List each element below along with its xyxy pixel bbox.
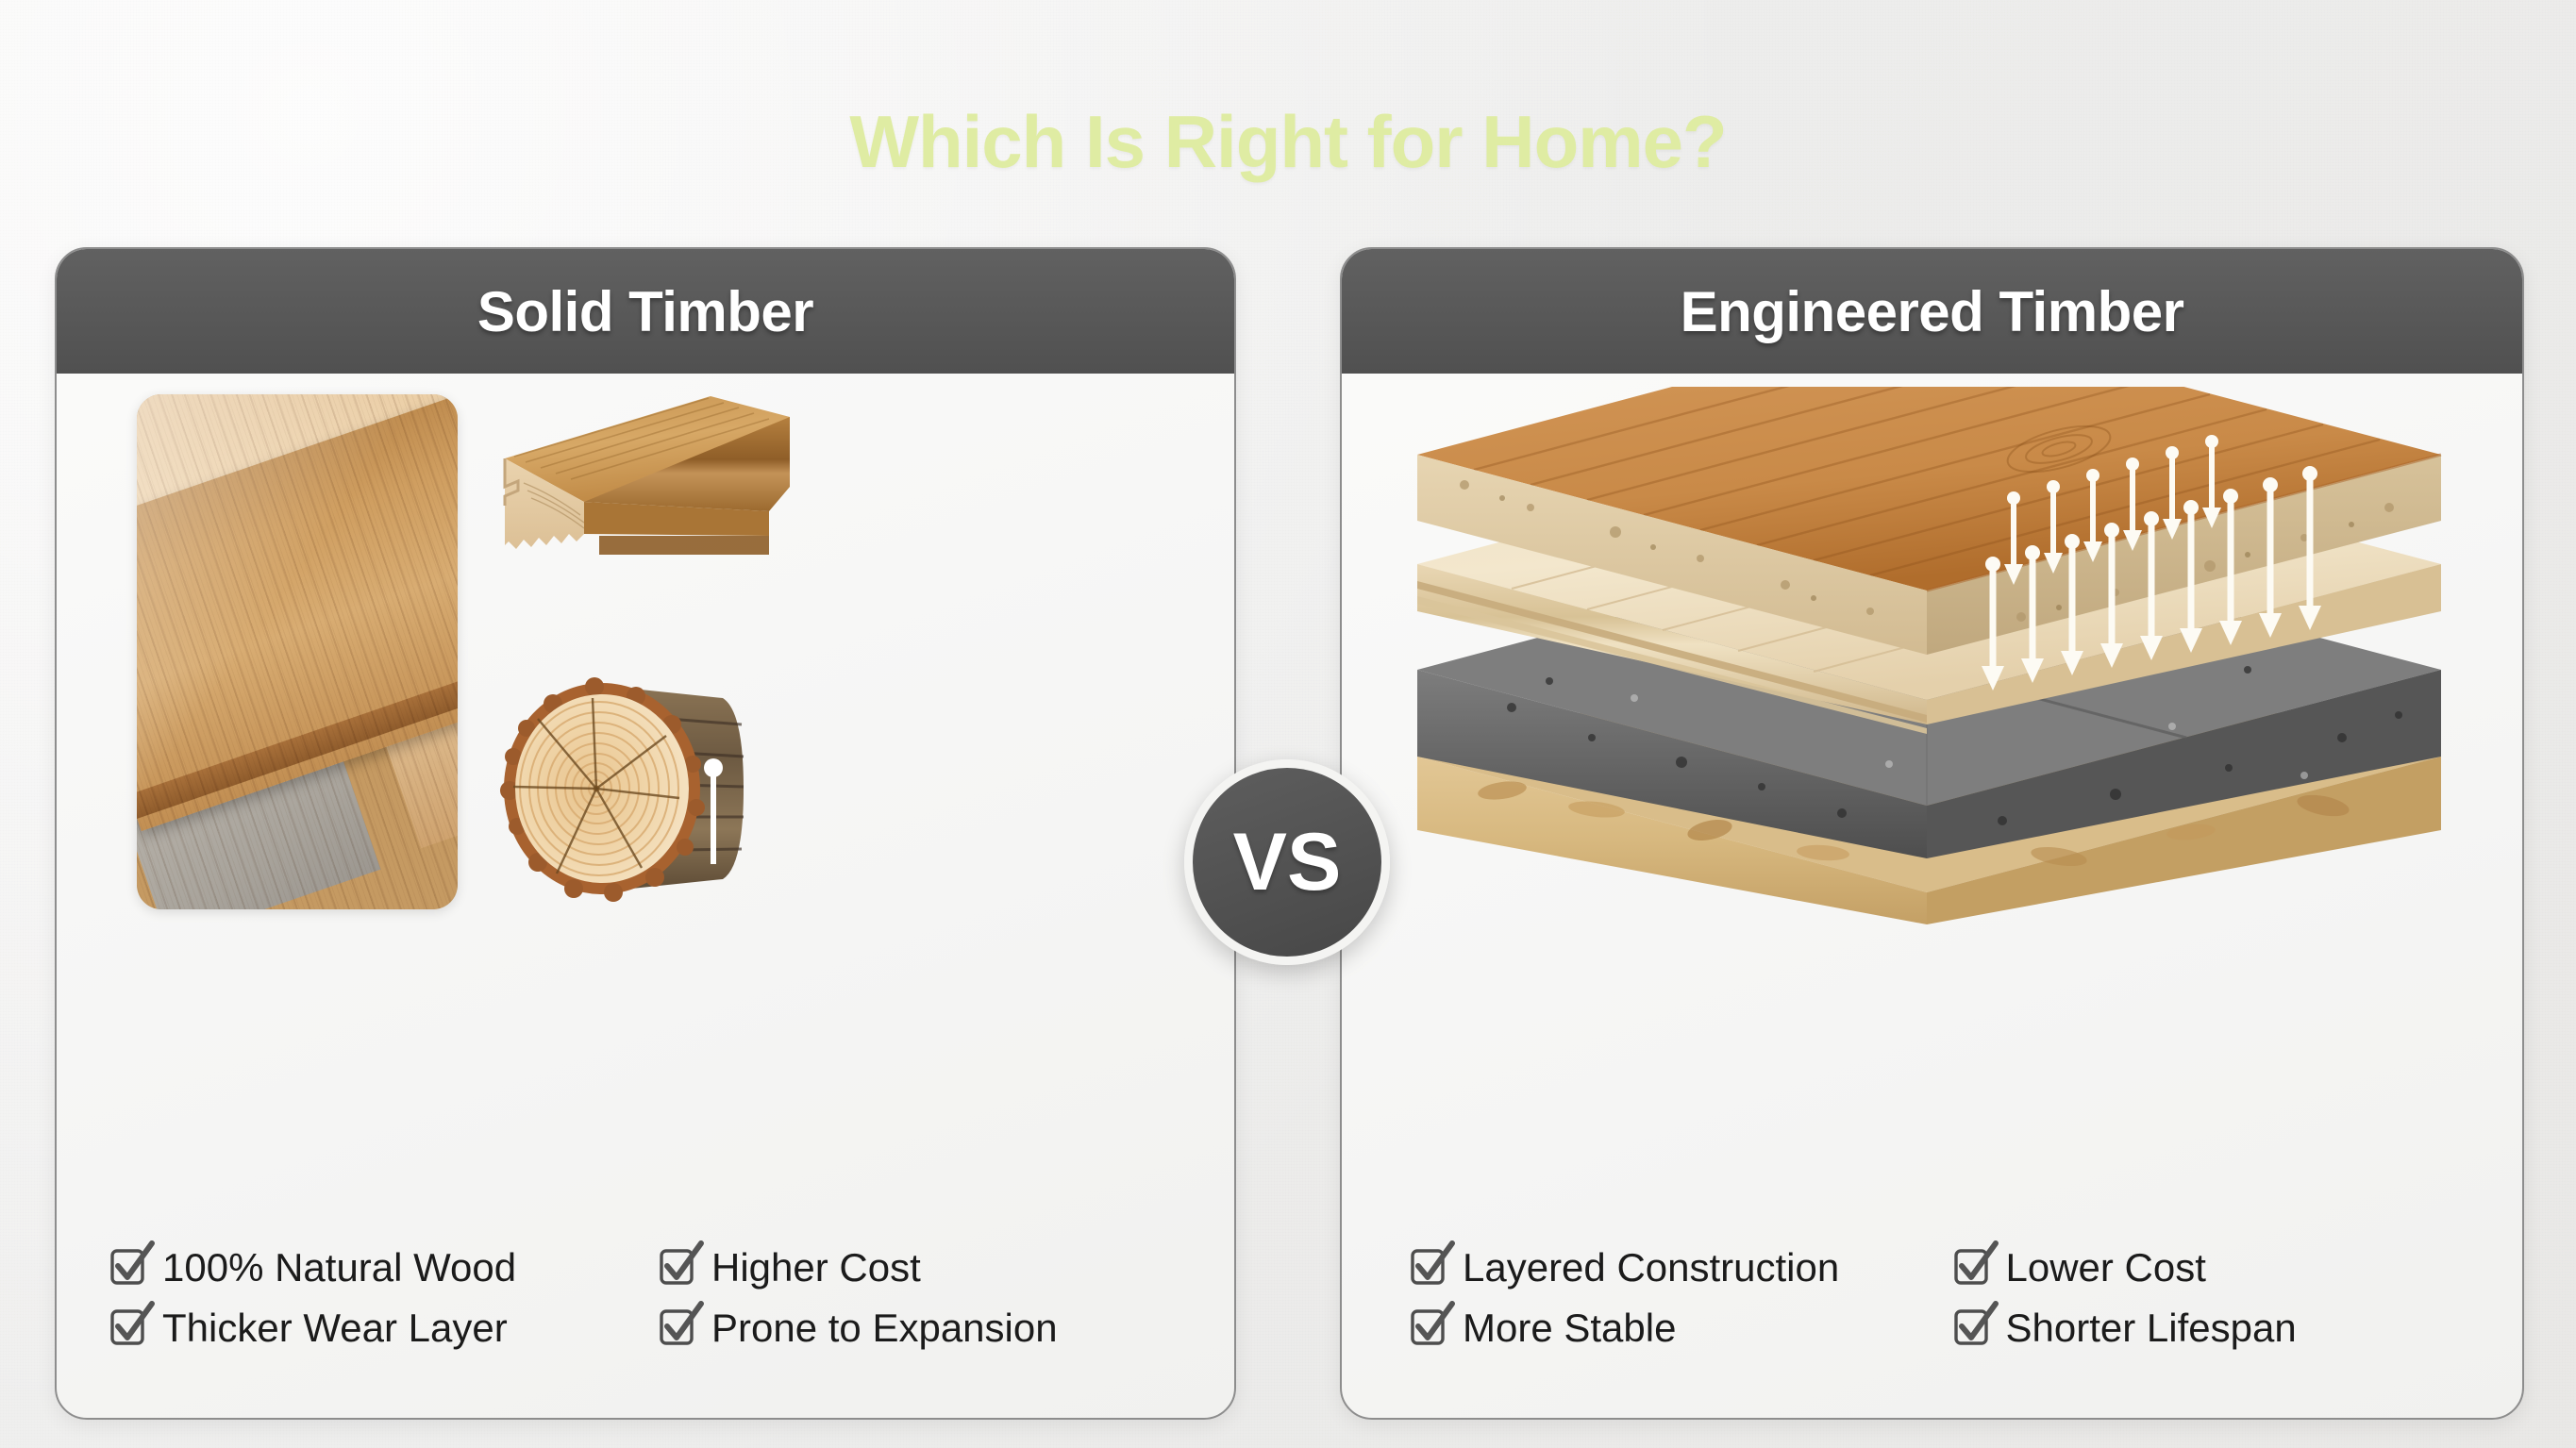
page-title: Which Is Right for Home? bbox=[0, 99, 2576, 185]
infographic-page: Which Is Right for Home? Solid Timber bbox=[0, 0, 2576, 1448]
comparison-card-solid-timber: Solid Timber bbox=[55, 247, 1236, 1420]
card-header-solid-timber: Solid Timber bbox=[57, 249, 1234, 374]
feature-item: Lower Cost bbox=[1955, 1246, 2491, 1290]
feature-label: Higher Cost bbox=[711, 1246, 921, 1290]
exploded-layer-diagram bbox=[1398, 387, 2460, 924]
checkbox-checked-icon bbox=[661, 1309, 696, 1347]
feature-label: Thicker Wear Layer bbox=[162, 1307, 508, 1350]
card-title-engineered-timber: Engineered Timber bbox=[1681, 279, 2184, 344]
feature-item: More Stable bbox=[1412, 1307, 1948, 1350]
checkbox-checked-icon bbox=[1955, 1309, 1991, 1347]
log-cross-section-icon bbox=[500, 666, 783, 911]
card-body-engineered-timber: Layered Construction Lower Cost bbox=[1342, 374, 2522, 1418]
vs-label: VS bbox=[1233, 816, 1342, 909]
feature-item: Shorter Lifespan bbox=[1955, 1307, 2491, 1350]
card-body-solid-timber: 100% Natural Wood Higher Cost bbox=[57, 374, 1234, 1418]
feature-list-engineered-timber: Layered Construction Lower Cost bbox=[1342, 1246, 2522, 1350]
checkbox-checked-icon bbox=[1955, 1249, 1991, 1287]
wood-flooring-photo bbox=[137, 394, 458, 909]
feature-label: 100% Natural Wood bbox=[162, 1246, 516, 1290]
checkbox-checked-icon bbox=[111, 1249, 147, 1287]
checkbox-checked-icon bbox=[111, 1309, 147, 1347]
checkbox-checked-icon bbox=[661, 1249, 696, 1287]
feature-item: Prone to Expansion bbox=[661, 1307, 1202, 1350]
feature-label: Prone to Expansion bbox=[711, 1307, 1058, 1350]
tongue-and-groove-plank-icon bbox=[486, 392, 797, 595]
feature-label: Layered Construction bbox=[1463, 1246, 1839, 1290]
feature-item: 100% Natural Wood bbox=[111, 1246, 653, 1290]
card-title-solid-timber: Solid Timber bbox=[477, 279, 813, 344]
feature-label: Lower Cost bbox=[2006, 1246, 2206, 1290]
card-header-engineered-timber: Engineered Timber bbox=[1342, 249, 2522, 374]
feature-item: Layered Construction bbox=[1412, 1246, 1948, 1290]
feature-label: Shorter Lifespan bbox=[2006, 1307, 2297, 1350]
checkbox-checked-icon bbox=[1412, 1249, 1447, 1287]
feature-item: Thicker Wear Layer bbox=[111, 1307, 653, 1350]
vs-badge: VS bbox=[1184, 759, 1390, 965]
feature-list-solid-timber: 100% Natural Wood Higher Cost bbox=[57, 1246, 1234, 1350]
comparison-card-engineered-timber: Engineered Timber bbox=[1340, 247, 2524, 1420]
checkbox-checked-icon bbox=[1412, 1309, 1447, 1347]
feature-item: Higher Cost bbox=[661, 1246, 1202, 1290]
feature-label: More Stable bbox=[1463, 1307, 1676, 1350]
